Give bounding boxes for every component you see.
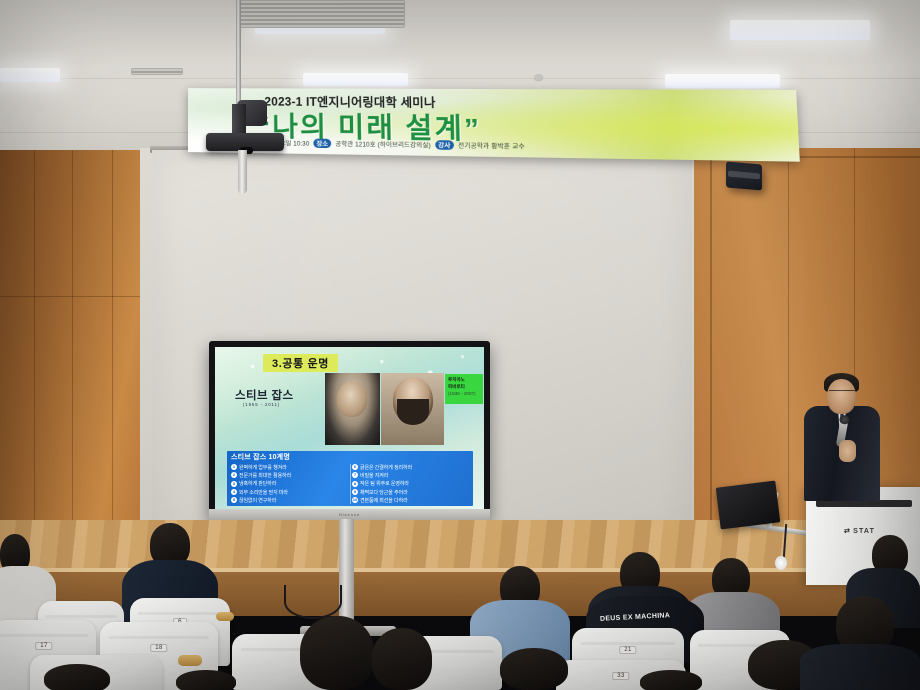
list-item: 8작은 팀 위주로 운영하라 [352, 480, 469, 488]
hanging-microphone-icon [238, 150, 247, 194]
slide-person-right-label: 루치아노 파바로티 (1935 - 2007) [445, 374, 483, 404]
podium-slot [816, 500, 912, 507]
audience-head [640, 670, 702, 690]
audience-head [500, 648, 568, 690]
audience-head [176, 670, 236, 690]
photo-luciano-pavarotti [381, 373, 444, 445]
lecture-hall-photo: 2023-1 IT엔지니어링대학 세미나 “나의 미래 설계” 매주 수요일 1… [0, 0, 920, 690]
banner-place: 공학관 1210호 (하이브리드강의실) [335, 142, 431, 150]
boundary-microphone-icon [775, 556, 787, 570]
podium-monitor[interactable] [716, 481, 781, 530]
podium-logo-mark: ⇄ [844, 527, 851, 535]
banner-speaker-chip: 강사 [435, 140, 454, 150]
presentation-display[interactable]: 3.공통 운명 스티브 잡스 (1955 - 2011) 루치아노 파바로티 (… [209, 341, 490, 519]
slide-list-right: 6굵은은 간결하게 정리하라 7비밀을 지켜라 8작은 팀 위주로 운영하라 9… [352, 463, 469, 504]
audience-shoulders [800, 644, 920, 690]
podium-logo: ⇄STAT [844, 527, 875, 535]
list-item: 10견본품에 최선을 다하라 [352, 496, 469, 504]
list-item: 2전문가를 최대한 활용하라 [231, 471, 348, 479]
list-item: 4외부 소리만을 믿지 마라 [231, 488, 348, 496]
presentation-slide: 3.공통 운명 스티브 잡스 (1955 - 2011) 루치아노 파바로티 (… [215, 347, 484, 509]
seat-number: 18 [150, 644, 167, 652]
smoke-detector-icon [534, 74, 543, 80]
seat-number: 33 [612, 672, 629, 680]
display-power-cable [284, 585, 342, 619]
seat-number: 21 [619, 646, 636, 654]
slide-list-left: 1완벽하게 업무를 챙겨라 2전문가를 최대한 활용하라 3냉혹하게 판단하라 … [231, 463, 348, 504]
audience-head [300, 616, 374, 690]
ceiling-vent [240, 0, 405, 28]
list-item: 9채찍보다 당근을 주어라 [352, 488, 469, 496]
list-item: 5끊임없이 연구하라 [231, 496, 348, 504]
ceiling-light [0, 68, 60, 82]
ceiling-light [303, 73, 408, 86]
audience-head [372, 628, 432, 690]
speaker-head [827, 379, 856, 414]
slide-person-left-years: (1955 - 2011) [243, 402, 280, 407]
ceiling-light [730, 20, 870, 40]
slide-title: 3.공통 운명 [263, 354, 338, 372]
slide-person-right-name-1: 루치아노 [448, 376, 481, 383]
seat-number: 17 [35, 642, 52, 650]
projector-mount-pole [236, 0, 241, 112]
list-item: 6굵은은 간결하게 정리하라 [352, 463, 469, 471]
left-wood-wall [0, 150, 146, 570]
wall-speaker-icon [726, 161, 762, 190]
projector-bracket [232, 104, 246, 136]
slide-list-heading: 스티브 잡스 10계명 [231, 452, 290, 462]
ceiling-vent [131, 68, 183, 75]
seat-armrest [178, 655, 202, 666]
seat-armrest [216, 612, 234, 621]
banner-place-chip: 장소 [313, 139, 331, 149]
slide-list-box: 스티브 잡스 10계명 1완벽하게 업무를 챙겨라 2전문가를 최대한 활용하라… [227, 451, 473, 506]
glasses-icon [829, 390, 855, 396]
slide-person-left-name: 스티브 잡스 [235, 387, 294, 403]
podium-logo-text: STAT [853, 528, 875, 535]
ceiling-light [665, 74, 780, 88]
photo-steve-jobs [325, 373, 380, 445]
slide-person-right-name-2: 파바로티 [448, 383, 481, 390]
list-item: 3냉혹하게 판단하라 [231, 480, 348, 488]
banner-speaker: 전기공학과 황박훈 교수 [458, 144, 525, 151]
list-item: 1완벽하게 업무를 챙겨라 [231, 463, 348, 471]
list-item: 7비밀을 지켜라 [352, 471, 469, 479]
display-stand-post [339, 519, 354, 631]
slide-person-right-years: (1935 - 2007) [448, 390, 481, 397]
audience-head [44, 664, 110, 690]
speaker-hand [839, 440, 856, 462]
